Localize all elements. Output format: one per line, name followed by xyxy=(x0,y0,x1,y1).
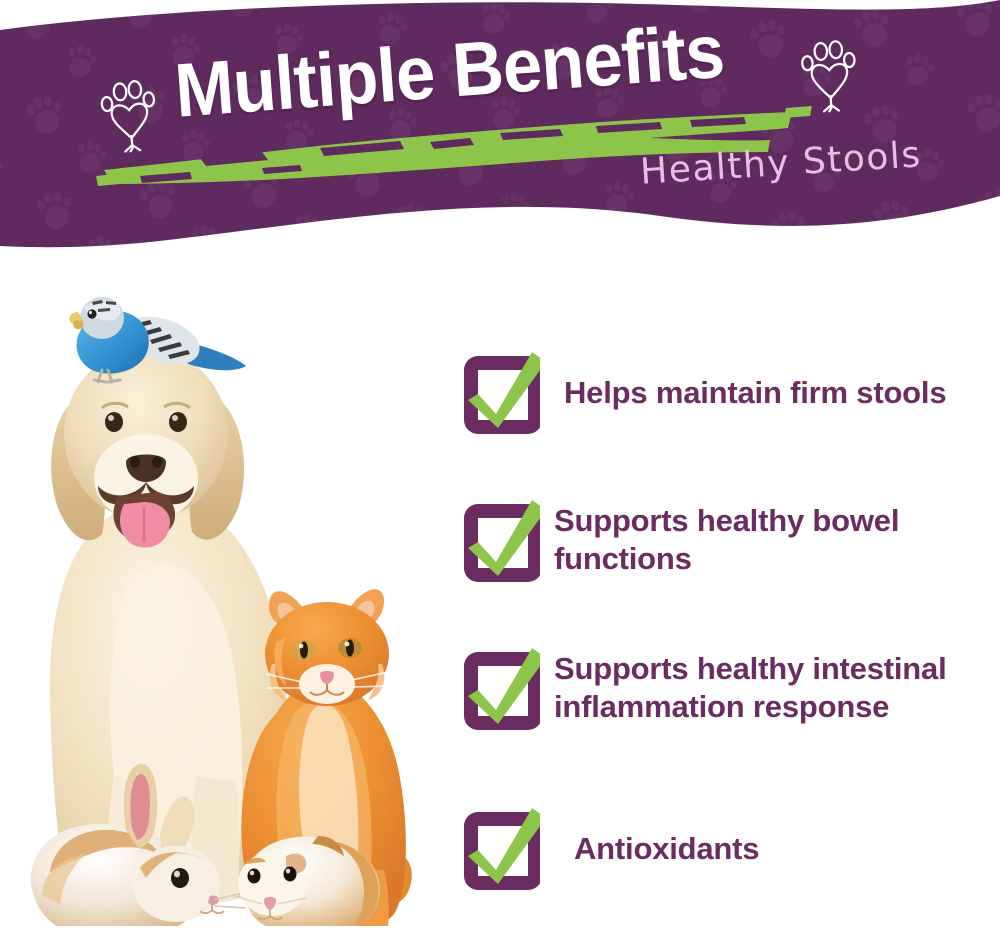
benefit-label: Antioxidants xyxy=(554,804,759,868)
banner: Multiple Benefits Healthy Stools xyxy=(0,0,1000,258)
paw-heart-icon xyxy=(97,73,165,154)
benefit-label: Supports healthy intestinal inflammation… xyxy=(554,644,986,726)
checkbox-checked-icon xyxy=(452,644,540,736)
checkbox-checked-icon xyxy=(452,804,540,896)
benefit-item: Supports healthy bowel functions xyxy=(452,496,992,588)
benefit-item: Helps maintain firm stools xyxy=(452,348,992,440)
checkbox-checked-icon xyxy=(452,496,540,588)
benefit-item: Antioxidants xyxy=(452,804,992,896)
product-benefits-infographic: Multiple Benefits Healthy Stools xyxy=(0,0,1000,928)
benefit-item: Supports healthy intestinal inflammation… xyxy=(452,644,992,736)
benefit-label: Supports healthy bowel functions xyxy=(554,496,954,578)
checkbox-checked-icon xyxy=(452,348,540,440)
paw-heart-icon xyxy=(798,34,864,113)
benefit-label: Helps maintain firm stools xyxy=(554,348,946,412)
pets-photo xyxy=(10,276,440,926)
